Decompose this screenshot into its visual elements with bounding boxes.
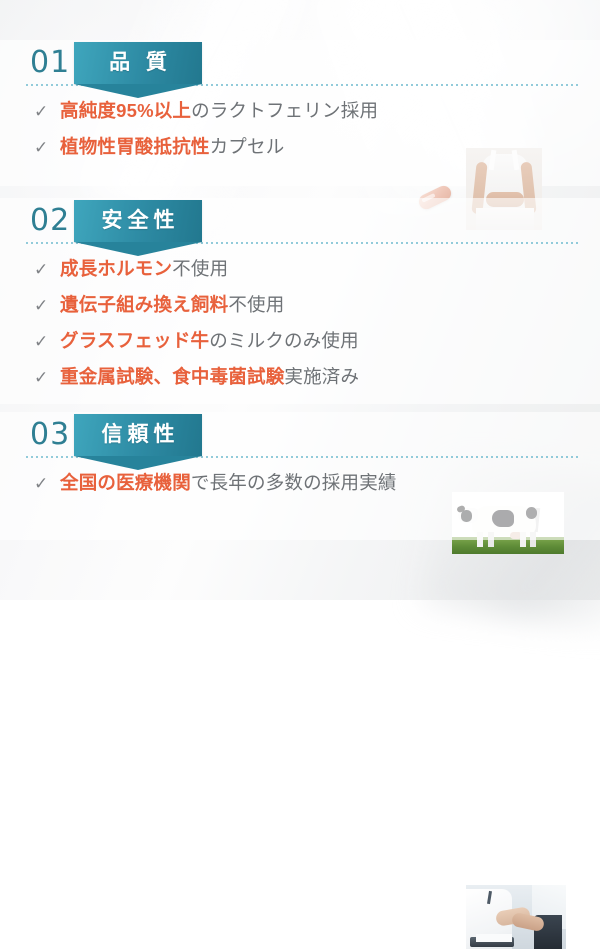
emphasis-text: 植物性胃酸抵抗性 [60, 136, 210, 157]
check-icon: ✓ [34, 327, 60, 357]
photo-shape [476, 934, 512, 942]
list-item: ✓ 遺伝子組み換え飼料不使用 [34, 290, 359, 321]
section-title: 品 質 [74, 42, 202, 84]
section-number: 03 [30, 416, 70, 454]
emphasis-text: グラスフェッド牛 [60, 330, 209, 351]
check-icon: ✓ [34, 363, 60, 393]
section-title: 安全性 [74, 200, 202, 242]
rest-text: カプセル [210, 136, 285, 157]
feature-list: ✓ 高純度95%以上のラクトフェリン採用 ✓ 植物性胃酸抵抗性カプセル [34, 96, 378, 168]
list-item: ✓ 植物性胃酸抵抗性カプセル [34, 132, 378, 163]
emphasis-text: 全国の医療機関 [60, 472, 191, 493]
list-item: ✓ 全国の医療機関で長年の多数の採用実績 [34, 468, 397, 499]
check-icon: ✓ [34, 291, 60, 321]
emphasis-text: 遺伝子組み換え飼料 [60, 294, 228, 315]
section-header: 03 信頼性 [0, 412, 600, 468]
feature-list: ✓ 全国の医療機関で長年の多数の採用実績 [34, 468, 397, 504]
rest-text: 不使用 [172, 258, 228, 279]
section-reliability: 03 信頼性 ✓ 全国の医療機関で長年の多数の採用実績 [0, 412, 600, 468]
list-item-text: 成長ホルモン不使用 [60, 254, 228, 284]
section-title-banner: 信頼性 [74, 414, 202, 456]
section-quality: 01 品 質 ✓ 高純度95%以上のラクトフェリン採用 ✓ 植物性胃酸抵抗性カプ… [0, 40, 600, 96]
rest-text: のミルクのみ使用 [209, 330, 359, 351]
list-item-text: グラスフェッド牛のミルクのみ使用 [60, 326, 359, 356]
section-title: 信頼性 [74, 414, 202, 456]
section-title-banner: 安全性 [74, 200, 202, 242]
infographic-page: 01 品 質 ✓ 高純度95%以上のラクトフェリン採用 ✓ 植物性胃酸抵抗性カプ… [0, 0, 600, 600]
section-number: 01 [30, 44, 70, 82]
feature-list: ✓ 成長ホルモン不使用 ✓ 遺伝子組み換え飼料不使用 ✓ グラスフェッド牛のミル… [34, 254, 359, 398]
list-item-text: 遺伝子組み換え飼料不使用 [60, 290, 284, 320]
section-header: 01 品 質 [0, 40, 600, 96]
section-title-banner: 品 質 [74, 42, 202, 84]
list-item: ✓ 重金属試験、食中毒菌試験実施済み [34, 362, 359, 393]
list-item-text: 重金属試験、食中毒菌試験実施済み [60, 362, 359, 392]
list-item: ✓ 成長ホルモン不使用 [34, 254, 359, 285]
section-safety: 02 安全性 ✓ 成長ホルモン不使用 ✓ 遺伝子組み換え飼料不使用 ✓ グラスフ… [0, 198, 600, 254]
check-icon: ✓ [34, 133, 60, 163]
check-icon: ✓ [34, 97, 60, 127]
list-item: ✓ グラスフェッド牛のミルクのみ使用 [34, 326, 359, 357]
list-item-text: 全国の医療機関で長年の多数の採用実績 [60, 468, 397, 498]
list-item-text: 植物性胃酸抵抗性カプセル [60, 132, 284, 162]
doctor-handshake-photo [466, 885, 566, 949]
check-icon: ✓ [34, 255, 60, 285]
check-icon: ✓ [34, 469, 60, 499]
section-number: 02 [30, 202, 70, 240]
emphasis-text: 高純度95%以上 [60, 100, 191, 121]
rest-text: 不使用 [228, 294, 284, 315]
list-item-text: 高純度95%以上のラクトフェリン採用 [60, 96, 378, 126]
rest-text: 実施済み [284, 366, 359, 387]
section-header: 02 安全性 [0, 198, 600, 254]
list-item: ✓ 高純度95%以上のラクトフェリン採用 [34, 96, 378, 127]
emphasis-text: 重金属試験、食中毒菌試験 [60, 366, 284, 387]
rest-text: のラクトフェリン採用 [191, 100, 378, 121]
emphasis-text: 成長ホルモン [60, 258, 172, 279]
rest-text: で長年の多数の採用実績 [191, 472, 397, 493]
